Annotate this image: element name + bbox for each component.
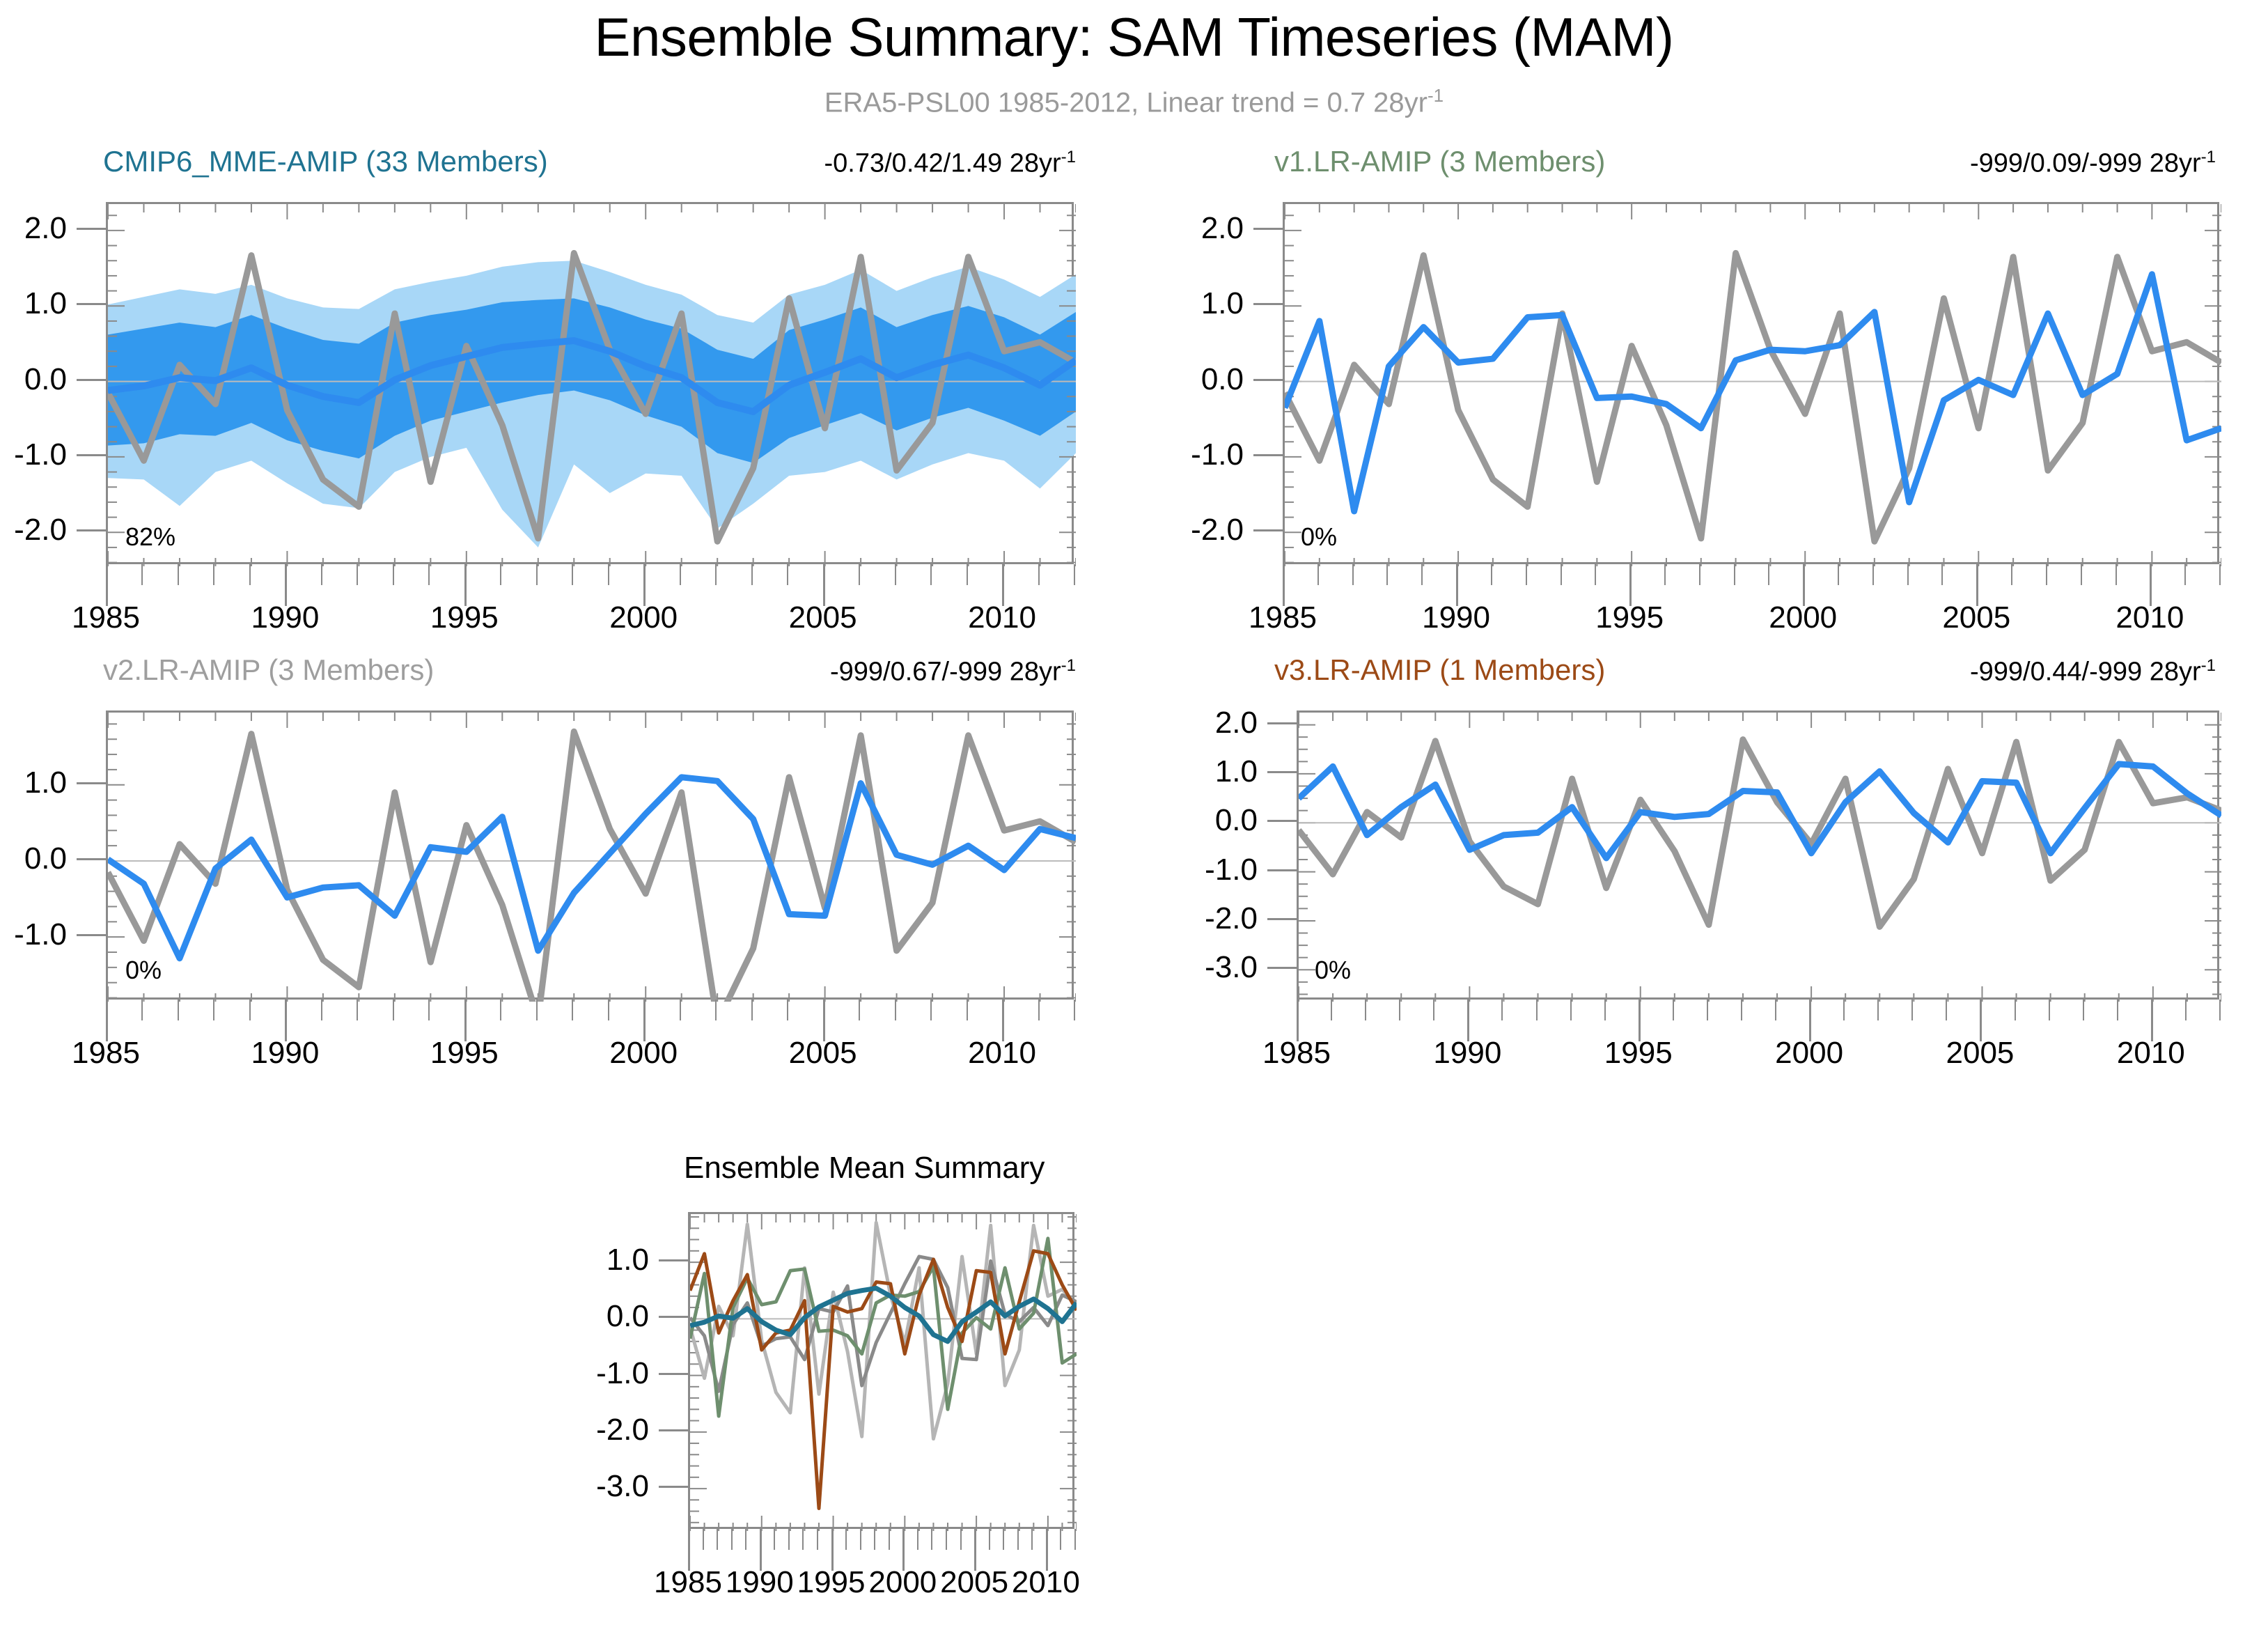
x-tick-mark [643, 564, 646, 606]
y-tick-mark [77, 782, 106, 784]
x-tick-label: 2010 [2116, 600, 2184, 635]
x-tick-mark-minor [774, 1529, 775, 1550]
x-tick-mark-minor [1399, 1000, 1400, 1020]
x-tick-mark [1283, 564, 1285, 606]
x-tick-mark-minor [967, 1000, 968, 1020]
x-tick-mark-minor [931, 1529, 932, 1550]
x-tick-mark [1976, 564, 1978, 606]
y-tick-label: 0.0 [1142, 362, 1244, 397]
panel-ensemble-mean-summary: Ensemble Mean Summary 1.00.0-1.0-2.0-3.0… [585, 1128, 1699, 1637]
x-tick-mark-minor [1946, 1000, 1947, 1020]
x-tick-label: 2000 [1769, 600, 1837, 635]
x-tick-mark-minor [1741, 1000, 1742, 1020]
x-tick-mark [1456, 564, 1458, 606]
x-tick-mark-minor [751, 564, 753, 585]
x-tick-label: 1990 [1422, 600, 1490, 635]
x-tick-mark [760, 1529, 762, 1571]
x-tick-label: 2000 [609, 1036, 678, 1071]
x-tick-mark-minor [917, 1529, 918, 1550]
x-tick-label: 2010 [2117, 1036, 2185, 1071]
x-tick-mark-minor [536, 1000, 538, 1020]
y-tick-label: -1.0 [0, 437, 67, 472]
panel-title-v1: v1.LR-AMIP (3 Members) [1274, 145, 1605, 178]
x-tick-label: 1995 [797, 1565, 866, 1600]
panel-title-ensemble-mean-summary: Ensemble Mean Summary [684, 1151, 1045, 1186]
x-tick-label: 2000 [868, 1565, 937, 1600]
x-tick-mark-minor [1317, 564, 1319, 585]
x-tick-mark-minor [1911, 1000, 1913, 1020]
plot-svg-v2 [108, 713, 1076, 1002]
panel-note-v3: 0% [1315, 956, 1351, 985]
x-tick-mark-minor [1491, 564, 1492, 585]
x-tick-mark [688, 1529, 690, 1571]
x-tick-mark-minor [2046, 564, 2047, 585]
x-tick-mark-minor [1433, 1000, 1434, 1020]
x-tick-mark-minor [141, 564, 143, 585]
x-tick-mark-minor [859, 564, 860, 585]
x-tick-mark-minor [357, 564, 358, 585]
y-tick-label: 2.0 [1142, 211, 1244, 246]
y-tick-label: -1.0 [1142, 853, 1258, 887]
x-tick-mark [823, 1000, 825, 1041]
panel-title-v2: v2.LR-AMIP (3 Members) [103, 653, 434, 687]
y-tick-mark [1267, 771, 1297, 773]
x-tick-mark-minor [321, 564, 322, 585]
x-tick-mark-minor [1536, 1000, 1538, 1020]
panel-title-cmip6: CMIP6_MME-AMIP (33 Members) [103, 145, 548, 178]
x-tick-mark-minor [817, 1529, 818, 1550]
x-tick-label: 1990 [1433, 1036, 1501, 1071]
x-tick-mark-minor [178, 1000, 179, 1020]
x-tick-mark-minor [608, 564, 609, 585]
y-tick-mark [77, 379, 106, 381]
panel-stat-v1-exponent: -1 [2201, 148, 2216, 166]
x-tick-mark-minor [1501, 1000, 1503, 1020]
x-tick-label: 2005 [789, 1036, 857, 1071]
x-tick-mark-minor [946, 1529, 947, 1550]
x-tick-mark [2150, 564, 2152, 606]
x-tick-mark [106, 1000, 108, 1041]
x-tick-mark-minor [2184, 564, 2186, 585]
panel-note-cmip6: 82% [125, 522, 175, 552]
x-tick-mark-minor [2083, 1000, 2084, 1020]
y-tick-mark [659, 1429, 688, 1431]
x-tick-mark [1980, 1000, 1982, 1041]
panel-stat-v3-exponent: -1 [2201, 656, 2216, 675]
x-tick-mark-minor [731, 1529, 733, 1550]
x-tick-mark-minor [572, 564, 573, 585]
y-tick-mark [1253, 454, 1283, 456]
plot-area-summary [688, 1212, 1074, 1529]
x-tick-mark-minor [428, 564, 430, 585]
y-tick-mark [1267, 820, 1297, 822]
x-tick-label: 2010 [968, 600, 1036, 635]
y-tick-label: 0.0 [1142, 803, 1258, 838]
x-tick-mark-minor [703, 1529, 704, 1550]
x-tick-mark-minor [1941, 564, 1943, 585]
page-subtitle: ERA5-PSL00 1985-2012, Linear trend = 0.7… [0, 85, 2268, 118]
x-tick-mark-minor [1604, 1000, 1606, 1020]
x-tick-mark-minor [1038, 1000, 1040, 1020]
x-tick-mark-minor [1031, 1529, 1033, 1550]
y-tick-mark [77, 934, 106, 936]
x-tick-label: 1985 [654, 1565, 722, 1600]
x-tick-mark-minor [1003, 1529, 1004, 1550]
x-tick-mark-minor [1872, 564, 1874, 585]
x-tick-mark [2151, 1000, 2153, 1041]
x-tick-mark-minor [1561, 564, 1562, 585]
x-tick-mark-minor [1386, 564, 1388, 585]
y-tick-mark [77, 303, 106, 305]
x-tick-mark-minor [141, 1000, 143, 1020]
x-tick-mark-minor [357, 1000, 358, 1020]
x-tick-label: 1985 [1249, 600, 1317, 635]
x-tick-mark [831, 1529, 834, 1571]
y-tick-mark [659, 1316, 688, 1318]
page-title-text: Ensemble Summary: SAM Timeseries (MAM) [595, 6, 1674, 68]
x-tick-label: 1995 [1595, 600, 1664, 635]
y-tick-label: -2.0 [585, 1413, 649, 1447]
x-tick-mark [643, 1000, 646, 1041]
x-tick-mark-minor [2011, 564, 2012, 585]
y-tick-label: -1.0 [1142, 437, 1244, 472]
x-tick-label: 1985 [72, 1036, 140, 1071]
plot-svg-summary [690, 1214, 1077, 1531]
x-tick-mark-minor [1352, 564, 1354, 585]
y-tick-mark [659, 1259, 688, 1261]
panel-stat-cmip6-text: -0.73/0.42/1.49 28yr [824, 149, 1061, 178]
x-tick-mark-minor [715, 564, 717, 585]
x-tick-mark-minor [1570, 1000, 1572, 1020]
panel-stat-v1: -999/0.09/-999 28yr-1 [1970, 148, 2216, 179]
x-tick-label: 1985 [1262, 1036, 1331, 1071]
panel-note-v2: 0% [125, 956, 162, 985]
x-tick-mark-minor [1017, 1529, 1019, 1550]
x-tick-label: 1995 [1604, 1036, 1673, 1071]
x-tick-label: 2005 [940, 1565, 1008, 1600]
page-subtitle-exponent: -1 [1428, 85, 1444, 106]
y-tick-mark [77, 228, 106, 230]
x-tick-mark [464, 1000, 467, 1041]
y-tick-mark [659, 1373, 688, 1375]
y-tick-label: -2.0 [0, 513, 67, 547]
x-tick-mark-minor [500, 1000, 501, 1020]
y-tick-label: 2.0 [0, 211, 67, 246]
x-tick-mark-minor [787, 1000, 788, 1020]
panel-cmip6: CMIP6_MME-AMIP (33 Members) -0.73/0.42/1… [0, 132, 1142, 620]
x-tick-mark-minor [2049, 1000, 2050, 1020]
y-tick-label: -2.0 [1142, 513, 1244, 547]
x-tick-mark-minor [393, 1000, 394, 1020]
x-tick-mark-minor [751, 1000, 753, 1020]
x-tick-mark-minor [1074, 1000, 1075, 1020]
x-tick-mark-minor [1595, 564, 1596, 585]
x-tick-mark-minor [930, 564, 932, 585]
page-title: Ensemble Summary: SAM Timeseries (MAM) [0, 6, 2268, 69]
x-tick-mark-minor [572, 1000, 573, 1020]
y-tick-label: 1.0 [1142, 754, 1258, 789]
x-tick-label: 1990 [251, 600, 319, 635]
x-tick-mark [1803, 564, 1805, 606]
x-tick-mark-minor [2116, 564, 2117, 585]
x-tick-label: 2010 [968, 1036, 1036, 1071]
y-tick-label: 0.0 [0, 841, 67, 876]
x-tick-mark-minor [859, 1000, 860, 1020]
plot-area-v3 [1297, 710, 2219, 1000]
x-tick-mark-minor [1768, 564, 1769, 585]
y-tick-mark [77, 858, 106, 860]
x-tick-mark-minor [1734, 564, 1735, 585]
x-tick-mark [974, 1529, 976, 1571]
x-tick-mark [106, 564, 108, 606]
y-tick-label: 1.0 [0, 766, 67, 800]
page-subtitle-text: ERA5-PSL00 1985-2012, Linear trend = 0.7… [824, 87, 1428, 118]
x-tick-mark-minor [249, 564, 251, 585]
plot-svg-v3 [1299, 713, 2221, 1002]
x-tick-mark-minor [960, 1529, 962, 1550]
y-tick-mark [1253, 303, 1283, 305]
y-tick-label: 2.0 [1142, 706, 1258, 740]
y-tick-label: 1.0 [585, 1243, 649, 1277]
x-tick-mark-minor [2185, 1000, 2187, 1020]
x-tick-mark [464, 564, 467, 606]
x-tick-mark-minor [213, 564, 214, 585]
y-tick-mark [659, 1486, 688, 1488]
y-tick-mark [1267, 918, 1297, 920]
x-tick-mark-minor [249, 1000, 251, 1020]
x-tick-mark-minor [608, 1000, 609, 1020]
x-tick-mark-minor [845, 1529, 847, 1550]
panel-stat-cmip6: -0.73/0.42/1.49 28yr-1 [824, 148, 1076, 179]
x-tick-mark-minor [1843, 1000, 1845, 1020]
x-tick-mark-minor [802, 1529, 804, 1550]
x-tick-mark-minor [1074, 564, 1075, 585]
x-tick-label: 1990 [251, 1036, 319, 1071]
y-tick-mark [1267, 722, 1297, 724]
panel-v2: v2.LR-AMIP (3 Members) -999/0.67/-999 28… [0, 641, 1142, 1087]
x-tick-mark [902, 1529, 905, 1571]
y-tick-mark [1267, 967, 1297, 969]
x-tick-mark-minor [745, 1529, 746, 1550]
x-tick-mark [285, 1000, 287, 1041]
x-tick-mark-minor [889, 1529, 890, 1550]
plot-svg-cmip6 [108, 204, 1076, 566]
x-tick-mark-minor [536, 564, 538, 585]
plot-svg-v1 [1285, 204, 2221, 566]
y-tick-label: 0.0 [585, 1299, 649, 1334]
x-tick-mark-minor [213, 1000, 214, 1020]
panel-v3: v3.LR-AMIP (1 Members) -999/0.44/-999 28… [1142, 641, 2268, 1087]
x-tick-mark-minor [1699, 564, 1700, 585]
x-tick-mark-minor [1038, 564, 1040, 585]
panel-v1: v1.LR-AMIP (3 Members) -999/0.09/-999 28… [1142, 132, 2268, 620]
y-tick-mark [77, 454, 106, 456]
x-tick-mark [1629, 564, 1632, 606]
x-tick-mark-minor [321, 1000, 322, 1020]
x-tick-mark-minor [2081, 564, 2082, 585]
y-tick-label: -3.0 [585, 1469, 649, 1504]
y-tick-label: 0.0 [0, 362, 67, 397]
x-tick-mark-minor [1331, 1000, 1332, 1020]
x-tick-mark [823, 564, 825, 606]
y-tick-mark [1267, 869, 1297, 871]
x-tick-mark-minor [680, 564, 681, 585]
x-tick-mark-minor [1907, 564, 1909, 585]
x-tick-mark-minor [1673, 1000, 1674, 1020]
x-tick-mark-minor [393, 564, 394, 585]
x-tick-mark-minor [1365, 1000, 1366, 1020]
x-tick-mark-minor [874, 1529, 875, 1550]
x-tick-mark-minor [2219, 564, 2221, 585]
x-tick-mark [1467, 1000, 1469, 1041]
x-tick-mark-minor [715, 1000, 717, 1020]
y-tick-mark [1253, 529, 1283, 531]
y-tick-mark [1253, 228, 1283, 230]
x-tick-mark-minor [1060, 1529, 1061, 1550]
x-tick-mark-minor [967, 564, 968, 585]
x-tick-mark-minor [989, 1529, 990, 1550]
x-tick-mark-minor [860, 1529, 861, 1550]
panel-stat-v3-text: -999/0.44/-999 28yr [1970, 658, 2201, 687]
x-tick-mark-minor [680, 1000, 681, 1020]
x-tick-mark-minor [1074, 1529, 1076, 1550]
x-tick-mark-minor [2015, 1000, 2016, 1020]
x-tick-mark-minor [428, 1000, 430, 1020]
y-tick-label: 1.0 [1142, 286, 1244, 321]
panel-stat-v2: -999/0.67/-999 28yr-1 [830, 656, 1076, 688]
x-tick-label: 2005 [1946, 1036, 2015, 1071]
x-tick-mark-minor [895, 564, 896, 585]
x-tick-mark [1046, 1529, 1048, 1571]
panel-stat-v1-text: -999/0.09/-999 28yr [1970, 149, 2201, 178]
x-tick-mark-minor [1421, 564, 1423, 585]
x-tick-mark-minor [178, 564, 179, 585]
x-tick-mark [285, 564, 287, 606]
x-tick-mark-minor [1664, 564, 1666, 585]
panel-title-v3: v3.LR-AMIP (1 Members) [1274, 653, 1605, 687]
panel-stat-cmip6-exponent: -1 [1061, 148, 1076, 166]
x-tick-label: 2010 [1012, 1565, 1080, 1600]
x-tick-label: 2005 [789, 600, 857, 635]
x-tick-mark [1297, 1000, 1299, 1041]
plot-area-v2 [106, 710, 1074, 1000]
x-tick-mark-minor [1877, 1000, 1879, 1020]
y-tick-mark [77, 529, 106, 531]
x-tick-mark-minor [500, 564, 501, 585]
x-tick-label: 1985 [72, 600, 140, 635]
y-tick-label: -1.0 [0, 917, 67, 952]
x-tick-mark-minor [788, 1529, 790, 1550]
x-tick-mark-minor [1838, 564, 1839, 585]
x-tick-mark-minor [2117, 1000, 2118, 1020]
x-tick-label: 1990 [726, 1565, 794, 1600]
x-tick-mark-minor [895, 1000, 896, 1020]
x-tick-mark-minor [1526, 564, 1527, 585]
x-tick-label: 2000 [609, 600, 678, 635]
y-tick-mark [1253, 379, 1283, 381]
x-tick-label: 2000 [1775, 1036, 1843, 1071]
x-tick-label: 1995 [430, 600, 499, 635]
plot-area-cmip6 [106, 202, 1074, 564]
x-tick-mark-minor [2219, 1000, 2221, 1020]
plot-area-v1 [1283, 202, 2219, 564]
y-tick-label: -3.0 [1142, 950, 1258, 985]
x-tick-mark-minor [787, 564, 788, 585]
y-tick-label: 1.0 [0, 286, 67, 321]
x-tick-mark-minor [1707, 1000, 1708, 1020]
x-tick-label: 2005 [1942, 600, 2010, 635]
x-tick-mark-minor [1775, 1000, 1776, 1020]
x-tick-mark [1002, 564, 1004, 606]
x-tick-mark-minor [717, 1529, 718, 1550]
panel-note-v1: 0% [1301, 522, 1337, 552]
x-tick-mark [1809, 1000, 1811, 1041]
x-tick-mark-minor [930, 1000, 932, 1020]
panel-stat-v2-text: -999/0.67/-999 28yr [830, 658, 1061, 687]
panel-stat-v2-exponent: -1 [1061, 656, 1076, 675]
panel-stat-v3: -999/0.44/-999 28yr-1 [1970, 656, 2216, 688]
y-tick-label: -1.0 [585, 1356, 649, 1391]
x-tick-mark [1002, 1000, 1004, 1041]
x-tick-mark [1639, 1000, 1641, 1041]
y-tick-label: -2.0 [1142, 901, 1258, 936]
x-tick-label: 1995 [430, 1036, 499, 1071]
